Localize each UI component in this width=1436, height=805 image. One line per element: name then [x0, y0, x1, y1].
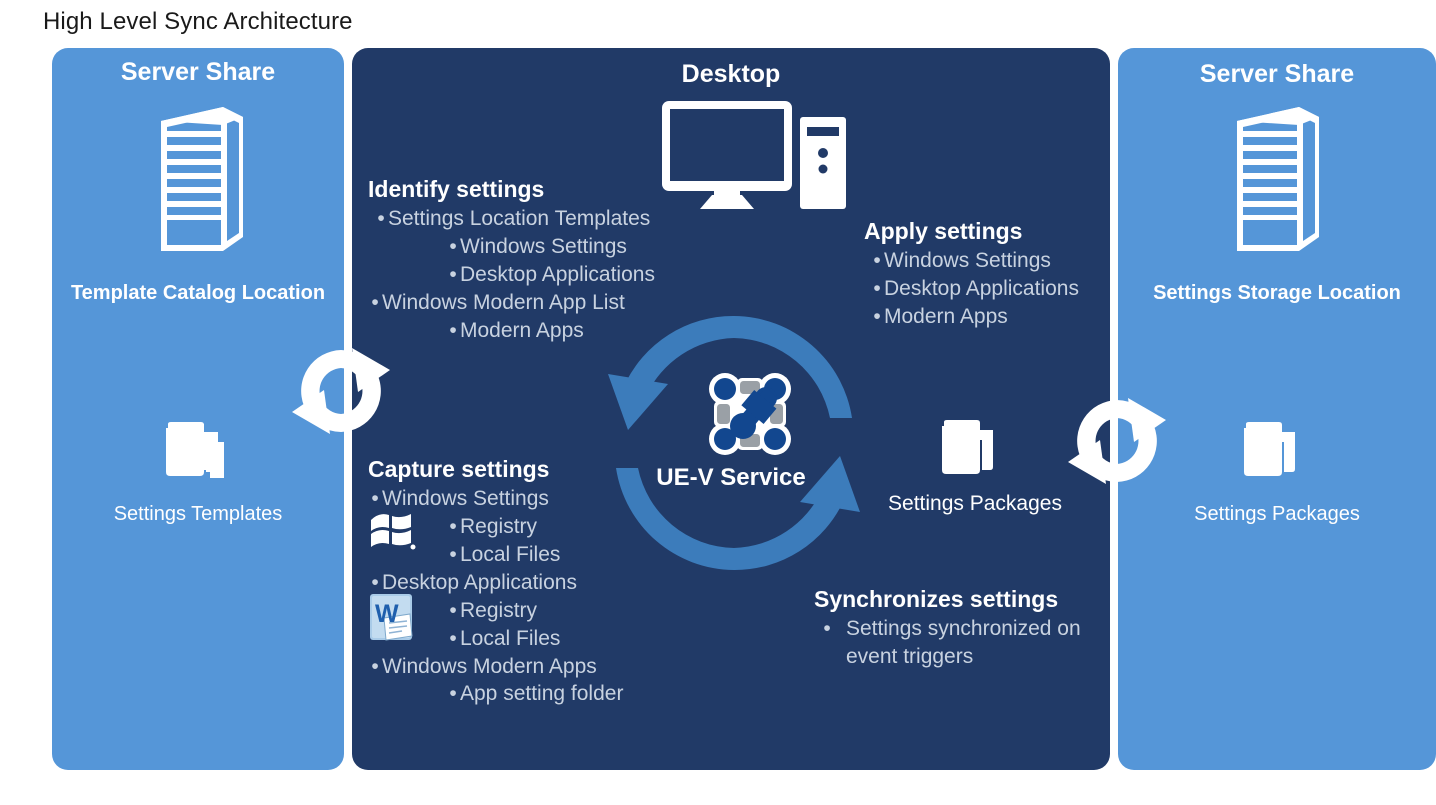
- bullet-glyph: •: [870, 303, 884, 331]
- right-panel-header: Server Share: [1118, 60, 1436, 89]
- capture-settings-block: Capture settings •Windows Settings •Regi…: [368, 456, 623, 708]
- left-rack-caption: Template Catalog Location: [52, 282, 344, 305]
- page-title: High Level Sync Architecture: [43, 8, 353, 36]
- bullet-glyph: •: [374, 205, 388, 233]
- bullet-glyph: •: [368, 653, 382, 681]
- center-panel-header: Desktop: [352, 60, 1110, 89]
- bullet-glyph: •: [446, 261, 460, 289]
- list-item: •Local Files: [446, 541, 623, 569]
- list-item-label: Local Files: [460, 625, 560, 653]
- list-item-label: Desktop Applications: [884, 275, 1079, 303]
- panel-desktop: Desktop: [352, 48, 1110, 770]
- bullet-glyph: •: [368, 289, 382, 317]
- list-item-label: Windows Modern Apps: [382, 653, 597, 681]
- list-item: •Modern Apps: [446, 317, 655, 345]
- left-folder-caption: Settings Templates: [52, 503, 344, 526]
- folder-icon: [1240, 416, 1312, 497]
- list-item-label: Modern Apps: [460, 317, 584, 345]
- capture-heading: Capture settings: [368, 456, 623, 483]
- list-item-label: Windows Modern App List: [382, 289, 625, 317]
- list-item: •Settings synchronized on event triggers: [820, 615, 1104, 671]
- bullet-glyph: •: [446, 680, 460, 708]
- right-rack-caption: Settings Storage Location: [1118, 282, 1436, 305]
- list-item: •Desktop Applications: [870, 275, 1079, 303]
- left-panel-header: Server Share: [52, 58, 344, 87]
- synchronize-settings-block: Synchronizes settings •Settings synchron…: [814, 586, 1104, 671]
- bullet-glyph: •: [446, 541, 460, 569]
- server-rack-icon: [153, 103, 249, 255]
- list-item: •Registry: [446, 513, 623, 541]
- list-item: •Registry: [446, 597, 623, 625]
- bullet-glyph: •: [446, 513, 460, 541]
- list-item: •Windows Modern Apps: [368, 653, 623, 681]
- list-item-label: Settings Location Templates: [388, 205, 650, 233]
- list-item: •Desktop Applications: [446, 261, 655, 289]
- bullet-glyph: •: [820, 615, 834, 643]
- uev-service-icon: [704, 368, 796, 465]
- list-item: •Settings Location Templates: [374, 205, 655, 233]
- folder-icon: [162, 416, 234, 497]
- sync-refresh-icon: [286, 336, 396, 451]
- desktop-computer-icon: [662, 101, 847, 214]
- list-item-label: App setting folder: [460, 680, 623, 708]
- list-item: •Windows Settings: [446, 233, 655, 261]
- list-item-label: Windows Settings: [460, 233, 627, 261]
- synchronize-heading: Synchronizes settings: [814, 586, 1104, 613]
- bullet-glyph: •: [870, 275, 884, 303]
- list-item-label: Desktop Applications: [460, 261, 655, 289]
- bullet-glyph: •: [446, 317, 460, 345]
- list-item: •App setting folder: [446, 680, 623, 708]
- list-item: •Local Files: [446, 625, 623, 653]
- apply-settings-block: Apply settings •Windows Settings •Deskto…: [864, 218, 1079, 331]
- list-item-label: Registry: [460, 597, 537, 625]
- list-item: •Windows Settings: [870, 247, 1079, 275]
- sync-refresh-icon: [1062, 386, 1172, 501]
- identify-settings-block: Identify settings •Settings Location Tem…: [368, 176, 655, 345]
- folder-icon: [938, 414, 1010, 495]
- bullet-glyph: •: [446, 233, 460, 261]
- list-item: •Windows Modern App List: [368, 289, 655, 317]
- list-item-label: Settings synchronized on event triggers: [846, 615, 1104, 671]
- server-rack-icon: [1229, 103, 1325, 255]
- apply-heading: Apply settings: [864, 218, 1079, 245]
- bullet-glyph: •: [870, 247, 884, 275]
- microsoft-word-icon: W: [368, 592, 416, 647]
- right-folder-caption: Settings Packages: [1118, 503, 1436, 526]
- windows-flag-icon: [368, 506, 416, 557]
- bullet-glyph: •: [446, 597, 460, 625]
- list-item: •Modern Apps: [870, 303, 1079, 331]
- list-item-label: Local Files: [460, 541, 560, 569]
- identify-heading: Identify settings: [368, 176, 655, 203]
- svg-text:W: W: [375, 600, 399, 628]
- list-item-label: Modern Apps: [884, 303, 1008, 331]
- list-item-label: Windows Settings: [884, 247, 1051, 275]
- list-item-label: Registry: [460, 513, 537, 541]
- bullet-glyph: •: [446, 625, 460, 653]
